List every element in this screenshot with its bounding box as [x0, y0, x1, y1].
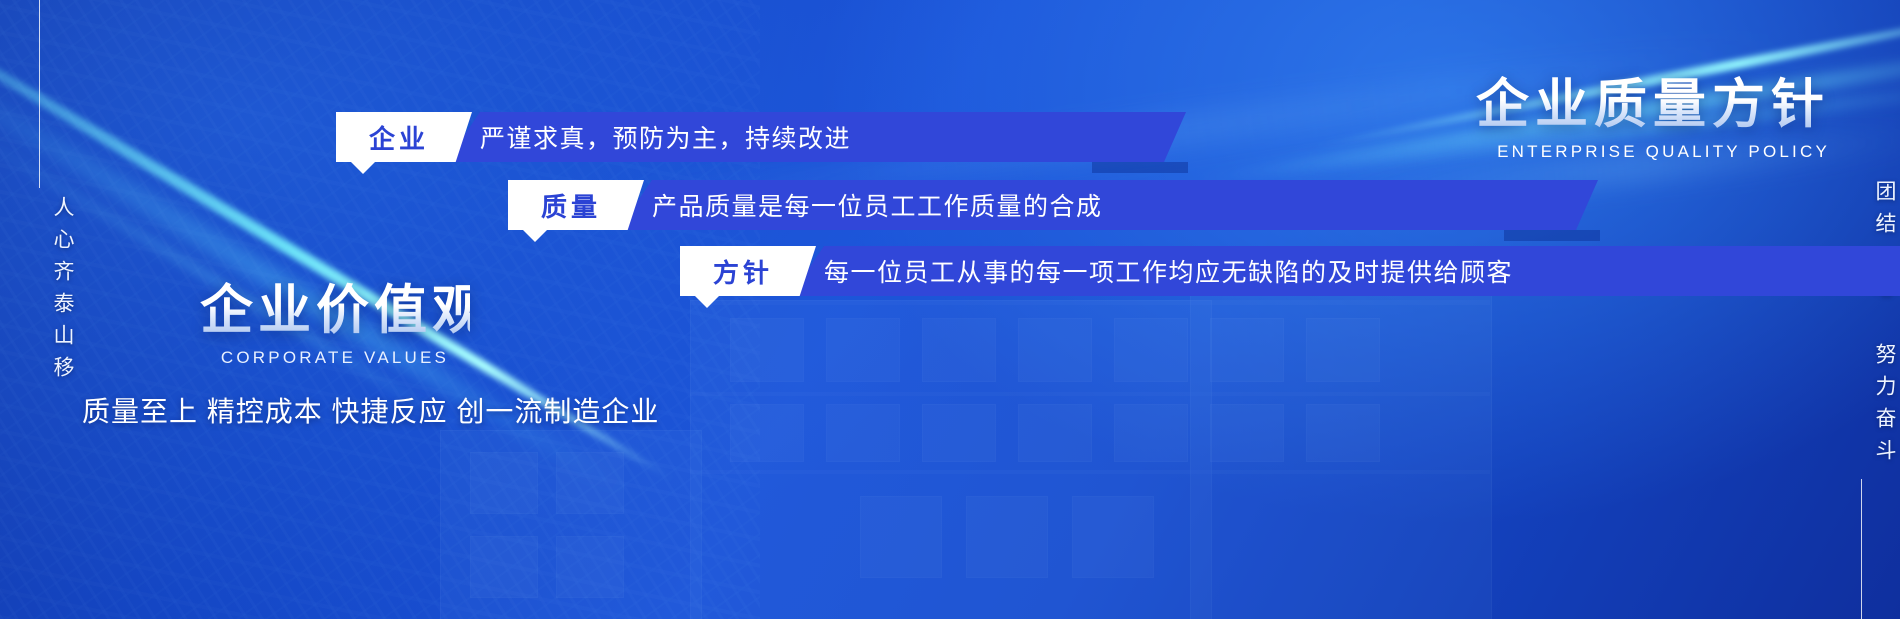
side-slogan-left-text: 人心齐泰山移 — [0, 196, 78, 388]
corporate-values-title-en: CORPORATE VALUES — [200, 348, 470, 368]
light-streak-icon — [0, 30, 634, 502]
banner-root: 人心齐泰山移 团结一心 努力奋斗 企业质量方针 ENTERPRISE QUALI… — [0, 0, 1900, 619]
policy-row-text: 严谨求真，预防为主，持续改进 — [446, 119, 877, 155]
corporate-values-heading: 企业价值观 CORPORATE VALUES — [200, 282, 470, 368]
quality-policy-title-en: ENTERPRISE QUALITY POLICY — [1476, 142, 1830, 162]
policy-row-badge: 企业 — [336, 112, 472, 162]
vertical-rule-left — [39, 0, 40, 188]
badge-tab-icon — [350, 161, 376, 174]
policy-row-text: 产品质量是每一位员工工作质量的合成 — [618, 187, 1129, 223]
policy-row-bar: 严谨求真，预防为主，持续改进 — [446, 112, 1186, 162]
side-slogan-right: 团结一心 努力奋斗 — [1822, 0, 1900, 619]
policy-row-badge: 质量 — [508, 180, 644, 230]
policy-row-badge: 方针 — [680, 246, 816, 296]
corporate-values-title-cn: 企业价值观 — [200, 282, 470, 339]
row-shadow — [1504, 230, 1600, 241]
policy-row-bar: 产品质量是每一位员工工作质量的合成 — [618, 180, 1598, 230]
quality-policy-title-cn: 企业质量方针 — [1476, 76, 1830, 133]
policy-row-badge-label: 方针 — [680, 246, 816, 296]
side-slogan-left: 人心齐泰山移 — [0, 0, 78, 619]
side-slogan-right-text: 团结一心 努力奋斗 — [1822, 180, 1900, 471]
policy-row-text: 每一位员工从事的每一项工作均应无缺陷的及时提供给顾客 — [790, 253, 1539, 289]
row-shadow — [1092, 162, 1188, 173]
badge-tab-icon — [694, 295, 720, 308]
badge-tab-icon — [522, 229, 548, 242]
corporate-values-tagline: 质量至上 精控成本 快捷反应 创一流制造企业 — [82, 390, 659, 430]
quality-policy-heading: 企业质量方针 ENTERPRISE QUALITY POLICY — [1476, 76, 1830, 162]
policy-row-badge-label: 企业 — [336, 112, 472, 162]
policy-row-bar: 每一位员工从事的每一项工作均应无缺陷的及时提供给顾客 — [790, 246, 1900, 296]
vertical-rule-right — [1861, 479, 1862, 619]
policy-row-badge-label: 质量 — [508, 180, 644, 230]
